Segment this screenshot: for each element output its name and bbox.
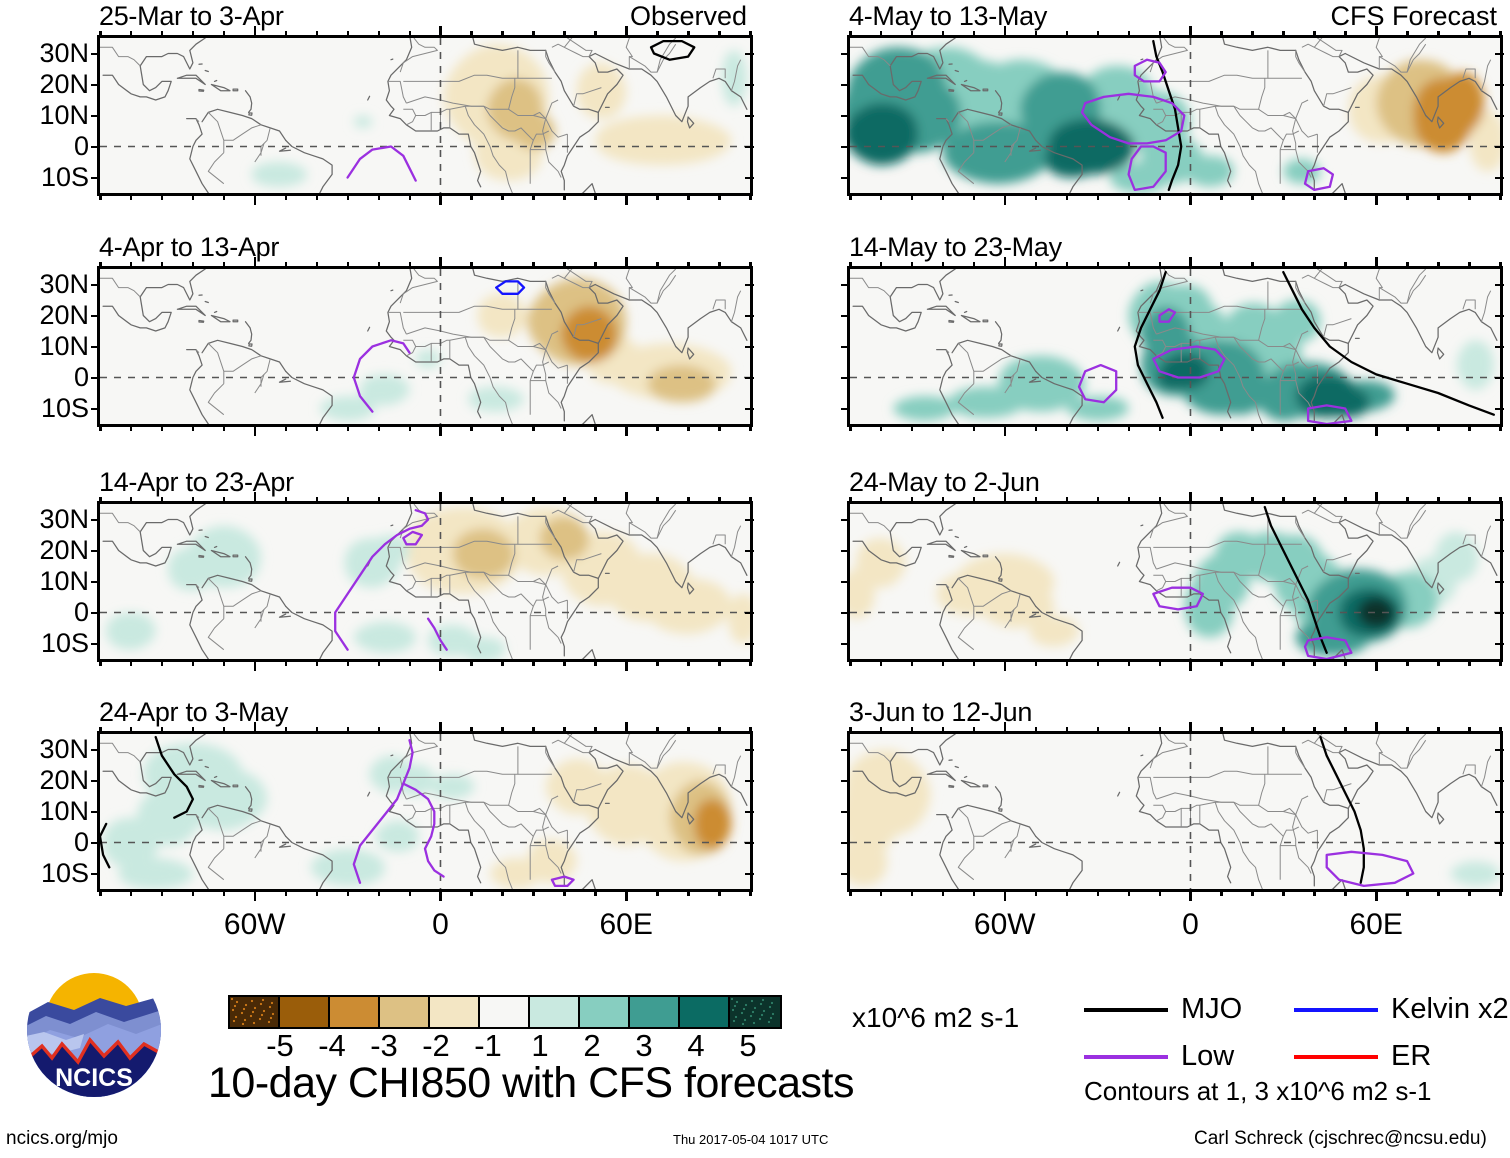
panel-right-1-xtick-mark-top bbox=[1468, 31, 1471, 38]
panel-right-3-xtick-mark-top bbox=[1159, 497, 1162, 504]
panel-left-2-xtick-mark bbox=[130, 424, 133, 431]
panel-right-4-xtick-mark-top bbox=[1468, 727, 1471, 734]
panel-left-1-ytick-mark bbox=[91, 53, 100, 56]
panel-left-4-xtick-mark bbox=[254, 889, 257, 901]
panel-right-4-xtick-mark bbox=[849, 889, 852, 896]
panel-right-2-xtick-mark-top bbox=[1189, 257, 1192, 269]
panel-left-4-ytick-4: 10S bbox=[1, 860, 89, 887]
colorbar-swatch-1 bbox=[280, 997, 330, 1027]
panel-right-4-xtick-mark-top bbox=[911, 727, 914, 734]
panel-right-2-ytick-mark-right bbox=[1495, 315, 1504, 318]
panel-left-2-ytick-1: 20N bbox=[1, 302, 89, 329]
colorbar-swatch-6 bbox=[530, 997, 580, 1027]
panel-right-4-xtick-mark bbox=[1189, 889, 1192, 901]
panel-left-4-ytick-mark-right bbox=[745, 873, 754, 876]
panel-left-2-xtick-mark bbox=[563, 424, 566, 431]
panel-right-4-xtick-mark-top bbox=[1128, 727, 1131, 734]
er-line-swatch bbox=[1294, 1055, 1378, 1059]
panel-left-2-xtick-mark bbox=[501, 424, 504, 431]
panel-left-2-ytick-mark-right bbox=[745, 346, 754, 349]
panel-right-4-xtick-mark bbox=[1437, 889, 1440, 896]
panel-right-1-xtick-mark bbox=[1437, 193, 1440, 200]
panel-left-3-ytick-1: 20N bbox=[1, 537, 89, 564]
panel-left-1-xtick-mark bbox=[254, 193, 257, 205]
panel-right-3-xtick-mark-top bbox=[973, 497, 976, 504]
panel-left-3-xtick-mark bbox=[532, 659, 535, 666]
colorbar-swatch-8 bbox=[630, 997, 680, 1027]
panel-right-4-xtick-mark-top bbox=[1251, 727, 1254, 734]
panel-left-3-xtick-mark bbox=[254, 659, 257, 671]
panel-left-1-xtick-mark-top bbox=[254, 26, 257, 38]
panel-left-1-ytick-2: 10N bbox=[1, 102, 89, 129]
panel-left-2-xtick-mark bbox=[99, 424, 102, 431]
panel-left-4-xtick-mark bbox=[99, 889, 102, 896]
colorbar-tick-4: -1 bbox=[458, 1030, 518, 1061]
panel-right-2-ytick-mark bbox=[841, 284, 850, 287]
panel-right-1-xtick-mark-top bbox=[1282, 31, 1285, 38]
panel-left-3-xtick-mark bbox=[285, 659, 288, 666]
panel-right-3-xtick-mark-top bbox=[1128, 497, 1131, 504]
panel-left-4-ytick-mark bbox=[91, 780, 100, 783]
panel-left-2-xtick-mark-top bbox=[254, 257, 257, 269]
panel-right-4-xtick-mark-top bbox=[1344, 727, 1347, 734]
panel-left-4-ytick-mark-right bbox=[745, 811, 754, 814]
panel-left-3-xtick-mark-top bbox=[254, 492, 257, 504]
panel-left-4-ytick-2: 10N bbox=[1, 798, 89, 825]
colorbar-tick-1: -4 bbox=[302, 1030, 362, 1061]
panel-left-2-ytick-mark-right bbox=[745, 408, 754, 411]
panel-left-4-xtick-mark-top bbox=[254, 722, 257, 734]
panel-left-2-ytick-mark-right bbox=[745, 377, 754, 380]
panel-right-1-ytick-mark-right bbox=[1495, 146, 1504, 149]
panel-right-1-xtick-mark-top bbox=[1159, 31, 1162, 38]
panel-right-1-xtick-mark bbox=[880, 193, 883, 200]
panel-right-3-xtick-mark bbox=[1128, 659, 1131, 666]
panel-right-2-xtick-mark bbox=[1066, 424, 1069, 431]
panel-right-3-xtick-mark-top bbox=[1282, 497, 1285, 504]
panel-right-1-xtick-mark bbox=[1189, 193, 1192, 205]
panel-left-1-ytick-3: 0 bbox=[1, 133, 89, 160]
panel-left-1-xtick-mark-top bbox=[563, 31, 566, 38]
panel-left-4-xtick-mark bbox=[749, 889, 752, 896]
panel-left-4-ytick-mark-right bbox=[745, 749, 754, 752]
panel-right-4-xtick-mark-top bbox=[1499, 727, 1502, 734]
panel-left-3-xtick-mark bbox=[625, 659, 628, 671]
panel-left-4-xtick-mark bbox=[687, 889, 690, 896]
colorbar-units-label: x10^6 m2 s-1 bbox=[852, 1004, 1019, 1032]
panel-right-1-xtick-mark bbox=[1128, 193, 1131, 200]
colorbar-swatch-0 bbox=[230, 997, 280, 1027]
panel-right-4-xtick-mark bbox=[1251, 889, 1254, 896]
panel-right-4-xtick-mark bbox=[1035, 889, 1038, 896]
panel-right-2-ytick-mark bbox=[841, 346, 850, 349]
panel-left-3-xtick-mark-top bbox=[470, 497, 473, 504]
svg-text:NCICS: NCICS bbox=[55, 1064, 133, 1092]
panel-right-3-ytick-mark-right bbox=[1495, 612, 1504, 615]
panel-right-3-xtick-mark bbox=[1066, 659, 1069, 666]
panel-right-2-xtick-mark-top bbox=[973, 262, 976, 269]
panel-left-3-xtick-mark-top bbox=[532, 497, 535, 504]
panel-right-2-xtick-mark-top bbox=[849, 262, 852, 269]
panel-left-1-map bbox=[97, 35, 753, 196]
panel-left-3-xtick-mark bbox=[470, 659, 473, 666]
panel-right-2-map bbox=[847, 266, 1503, 427]
panel-left-1-ytick-mark-right bbox=[745, 177, 754, 180]
panel-left-1-ytick-mark bbox=[91, 84, 100, 87]
panel-left-4-xtick-mark-top bbox=[749, 727, 752, 734]
panel-right-2-xtick-mark-top bbox=[1128, 262, 1131, 269]
panel-left-4-xtick-mark bbox=[223, 889, 226, 896]
panel-left-2-ytick-0: 30N bbox=[1, 271, 89, 298]
ncics-logo-graphic: NCICS bbox=[26, 962, 162, 1098]
panel-left-1-xtick-mark-top bbox=[378, 31, 381, 38]
panel-left-2-xtick-mark-top bbox=[687, 262, 690, 269]
panel-left-3-xtick-mark-top bbox=[347, 497, 350, 504]
panel-left-2-xtick-mark-top bbox=[501, 262, 504, 269]
panel-right-1-xtick-mark-top bbox=[1406, 31, 1409, 38]
panel-left-4-xtick-mark bbox=[378, 889, 381, 896]
panel-right-4-xtick-mark-top bbox=[1282, 727, 1285, 734]
panel-right-3-xtick-mark bbox=[1344, 659, 1347, 666]
panel-right-3-xtick-mark-top bbox=[911, 497, 914, 504]
colorbar-swatch-9 bbox=[680, 997, 730, 1027]
panel-left-1-xtick-mark-top bbox=[347, 31, 350, 38]
panel-left-4-xtick-mark bbox=[532, 889, 535, 896]
panel-left-1-xtick-mark bbox=[749, 193, 752, 200]
panel-left-4-xtick-mark bbox=[656, 889, 659, 896]
panel-left-4-xtick-mark-top bbox=[347, 727, 350, 734]
colorbar-tick-7: 3 bbox=[614, 1030, 674, 1061]
panel-right-3-ytick-mark bbox=[841, 550, 850, 553]
panel-left-4-xtick-mark-top bbox=[656, 727, 659, 734]
panel-right-1-xtick-mark-top bbox=[1375, 26, 1378, 38]
panel-right-1-xtick-mark bbox=[1499, 193, 1502, 200]
panel-right-3-xtick-mark bbox=[1375, 659, 1378, 671]
panel-left-4-xtick-mark-top bbox=[378, 727, 381, 734]
panel-left-3-ytick-0: 30N bbox=[1, 506, 89, 533]
colorbar-tick-2: -3 bbox=[354, 1030, 414, 1061]
panel-right-1-ytick-mark-right bbox=[1495, 177, 1504, 180]
panel-left-3-ytick-mark bbox=[91, 643, 100, 646]
panel-left-3-ytick-4: 10S bbox=[1, 630, 89, 657]
panel-left-1-ytick-mark-right bbox=[745, 115, 754, 118]
panel-right-4-xtick-mark-top bbox=[1035, 727, 1038, 734]
legend-label-low: Low bbox=[1181, 1042, 1234, 1071]
panel-left-4-xtick-mark bbox=[439, 889, 442, 901]
panel-left-2-ytick-mark bbox=[91, 284, 100, 287]
panel-left-3-xtick-mark-top bbox=[99, 497, 102, 504]
panel-left-2-xtick-mark-top bbox=[625, 257, 628, 269]
panel-left-3-ytick-mark bbox=[91, 519, 100, 522]
panel-left-4-xtick-mark-top bbox=[223, 727, 226, 734]
panel-right-1-xtick-mark-top bbox=[1220, 31, 1223, 38]
panel-right-3-ytick-mark-right bbox=[1495, 581, 1504, 584]
panel-right-4-xtick-mark-top bbox=[1004, 722, 1007, 734]
legend-label-kelvin: Kelvin x2 bbox=[1391, 995, 1509, 1024]
panel-left-4-xtick-mark-top bbox=[563, 727, 566, 734]
panel-right-2-xtick-mark-top bbox=[911, 262, 914, 269]
panel-right-4-xtick-mark-top bbox=[1406, 727, 1409, 734]
panel-right-1-xtick-mark bbox=[1344, 193, 1347, 200]
panel-left-3-xtick-mark bbox=[563, 659, 566, 666]
panel-right-3-xtick-mark bbox=[1313, 659, 1316, 666]
panel-right-1-xtick-mark-top bbox=[911, 31, 914, 38]
colorbar-tick-6: 2 bbox=[562, 1030, 622, 1061]
panel-left-3-ytick-3: 0 bbox=[1, 599, 89, 626]
xtick-label-1-0: 60W bbox=[935, 910, 1075, 940]
panel-left-2-ytick-mark bbox=[91, 408, 100, 411]
panel-left-4-xtick-mark-top bbox=[532, 727, 535, 734]
panel-right-2-xtick-mark bbox=[1499, 424, 1502, 431]
panel-right-1-xtick-mark bbox=[1220, 193, 1223, 200]
panel-left-4-xtick-mark-top bbox=[687, 727, 690, 734]
legend-label-mjo: MJO bbox=[1181, 995, 1242, 1024]
panel-left-4-xtick-mark bbox=[285, 889, 288, 896]
panel-right-4-xtick-mark bbox=[973, 889, 976, 896]
panel-right-4-xtick-mark-top bbox=[1437, 727, 1440, 734]
panel-left-3-xtick-mark bbox=[130, 659, 133, 666]
panel-left-3-ytick-mark-right bbox=[745, 643, 754, 646]
panel-left-2-xtick-mark bbox=[749, 424, 752, 431]
panel-right-4-xtick-mark-top bbox=[942, 727, 945, 734]
panel-right-3-xtick-mark bbox=[942, 659, 945, 666]
colorbar-swatch-5 bbox=[480, 997, 530, 1027]
panel-left-2-title: 4-Apr to 13-Apr bbox=[99, 234, 279, 261]
panel-left-2-xtick-mark-top bbox=[192, 262, 195, 269]
panel-left-4-xtick-mark bbox=[347, 889, 350, 896]
panel-right-3-xtick-mark-top bbox=[1344, 497, 1347, 504]
panel-left-4-map bbox=[97, 731, 753, 892]
panel-right-4-xtick-mark bbox=[1004, 889, 1007, 901]
panel-left-3-xtick-mark bbox=[501, 659, 504, 666]
panel-right-4-xtick-mark bbox=[1282, 889, 1285, 896]
panel-right-4-ytick-mark-right bbox=[1495, 811, 1504, 814]
panel-left-2-xtick-mark bbox=[439, 424, 442, 436]
panel-right-4-xtick-mark-top bbox=[880, 727, 883, 734]
panel-left-2-xtick-mark-top bbox=[378, 262, 381, 269]
panel-right-1-xtick-mark-top bbox=[1035, 31, 1038, 38]
colorbar-swatch-4 bbox=[430, 997, 480, 1027]
panel-left-2-xtick-mark-top bbox=[656, 262, 659, 269]
panel-left-4-ytick-mark bbox=[91, 842, 100, 845]
panel-left-1-xtick-mark-top bbox=[223, 31, 226, 38]
panel-right-4-map bbox=[847, 731, 1503, 892]
panel-left-4-xtick-mark bbox=[563, 889, 566, 896]
panel-right-2-xtick-mark bbox=[1406, 424, 1409, 431]
panel-left-4-xtick-mark-top bbox=[625, 722, 628, 734]
panel-left-1-xtick-mark bbox=[470, 193, 473, 200]
panel-left-1-xtick-mark-top bbox=[439, 26, 442, 38]
panel-left-3-ytick-mark-right bbox=[745, 612, 754, 615]
panel-left-3-xtick-mark bbox=[439, 659, 442, 671]
panel-left-2-xtick-mark bbox=[532, 424, 535, 431]
panel-right-3-xtick-mark-top bbox=[1375, 492, 1378, 504]
panel-right-3-xtick-mark-top bbox=[942, 497, 945, 504]
panel-right-4-xtick-mark bbox=[1097, 889, 1100, 896]
panel-right-3-xtick-mark-top bbox=[1313, 497, 1316, 504]
panel-left-1-xtick-mark-top bbox=[285, 31, 288, 38]
panel-left-3-ytick-mark bbox=[91, 550, 100, 553]
panel-right-4-xtick-mark bbox=[1220, 889, 1223, 896]
panel-right-2-xtick-mark bbox=[1375, 424, 1378, 436]
panel-right-2-xtick-mark-top bbox=[1437, 262, 1440, 269]
panel-left-3-xtick-mark-top bbox=[439, 492, 442, 504]
panel-right-3-xtick-mark bbox=[1437, 659, 1440, 666]
panel-right-2-ytick-mark-right bbox=[1495, 284, 1504, 287]
panel-right-1-xtick-mark bbox=[1004, 193, 1007, 205]
panel-right-3-xtick-mark bbox=[1159, 659, 1162, 666]
panel-left-1-xtick-mark bbox=[409, 193, 412, 200]
xtick-label-1-2: 60E bbox=[1306, 910, 1446, 940]
panel-left-2-map bbox=[97, 266, 753, 427]
panel-right-1-ytick-mark bbox=[841, 84, 850, 87]
panel-left-3-xtick-mark-top bbox=[192, 497, 195, 504]
panel-left-1-xtick-mark bbox=[285, 193, 288, 200]
panel-left-1-xtick-mark bbox=[223, 193, 226, 200]
panel-left-2-xtick-mark-top bbox=[409, 262, 412, 269]
panel-left-2-xtick-mark-top bbox=[563, 262, 566, 269]
panel-right-3-xtick-mark-top bbox=[1220, 497, 1223, 504]
panel-right-1-xtick-mark-top bbox=[1004, 26, 1007, 38]
panel-right-4-ytick-mark-right bbox=[1495, 780, 1504, 783]
panel-left-3-xtick-mark bbox=[161, 659, 164, 666]
panel-right-2-xtick-mark bbox=[1468, 424, 1471, 431]
column-header-left: Observed bbox=[97, 3, 747, 30]
panel-right-1-ytick-mark bbox=[841, 115, 850, 118]
panel-right-3-ytick-mark-right bbox=[1495, 519, 1504, 522]
panel-right-2-xtick-mark bbox=[1004, 424, 1007, 436]
panel-right-4-ytick-mark-right bbox=[1495, 873, 1504, 876]
colorbar-tick-3: -2 bbox=[406, 1030, 466, 1061]
panel-left-4-xtick-mark-top bbox=[285, 727, 288, 734]
panel-right-1-xtick-mark-top bbox=[1251, 31, 1254, 38]
panel-right-3-xtick-mark bbox=[1251, 659, 1254, 666]
panel-right-1-xtick-mark bbox=[1282, 193, 1285, 200]
panel-left-2-xtick-mark bbox=[470, 424, 473, 431]
colorbar-swatch-3 bbox=[380, 997, 430, 1027]
main-title: 10-day CHI850 with CFS forecasts bbox=[208, 1062, 854, 1105]
panel-right-3-xtick-mark bbox=[1499, 659, 1502, 666]
panel-left-3-xtick-mark-top bbox=[563, 497, 566, 504]
panel-right-2-xtick-mark bbox=[1159, 424, 1162, 431]
panel-left-2-xtick-mark bbox=[285, 424, 288, 431]
panel-right-1-map bbox=[847, 35, 1503, 196]
panel-left-4-xtick-mark-top bbox=[439, 722, 442, 734]
colorbar bbox=[228, 995, 782, 1029]
panel-right-3-xtick-mark bbox=[1220, 659, 1223, 666]
panel-right-1-xtick-mark bbox=[911, 193, 914, 200]
ncics-logo: NCICS bbox=[26, 962, 162, 1098]
panel-left-3-ytick-mark bbox=[91, 612, 100, 615]
panel-left-3-xtick-mark-top bbox=[378, 497, 381, 504]
panel-left-4-xtick-mark bbox=[718, 889, 721, 896]
panel-right-3-xtick-mark-top bbox=[1406, 497, 1409, 504]
panel-left-1-xtick-mark bbox=[625, 193, 628, 205]
panel-right-3-ytick-mark bbox=[841, 643, 850, 646]
panel-right-2-xtick-mark bbox=[1035, 424, 1038, 431]
panel-left-2-ytick-mark bbox=[91, 377, 100, 380]
panel-right-4-xtick-mark bbox=[1313, 889, 1316, 896]
panel-right-4-xtick-mark bbox=[880, 889, 883, 896]
panel-right-2-xtick-mark-top bbox=[1066, 262, 1069, 269]
panel-right-4-xtick-mark bbox=[1406, 889, 1409, 896]
panel-left-1-xtick-mark bbox=[439, 193, 442, 205]
panel-right-1-xtick-mark-top bbox=[1499, 31, 1502, 38]
panel-left-4-xtick-mark-top bbox=[409, 727, 412, 734]
panel-left-2-ytick-mark-right bbox=[745, 284, 754, 287]
colorbar-tick-8: 4 bbox=[666, 1030, 726, 1061]
panel-right-3-xtick-mark-top bbox=[849, 497, 852, 504]
panel-left-2-xtick-mark bbox=[594, 424, 597, 431]
panel-left-1-xtick-mark-top bbox=[625, 26, 628, 38]
panel-left-2-xtick-mark-top bbox=[347, 262, 350, 269]
panel-left-3-xtick-mark-top bbox=[749, 497, 752, 504]
panel-right-4-xtick-mark bbox=[1128, 889, 1131, 896]
panel-left-2-xtick-mark-top bbox=[161, 262, 164, 269]
panel-right-1-xtick-mark-top bbox=[942, 31, 945, 38]
panel-left-3-xtick-mark-top bbox=[625, 492, 628, 504]
panel-right-2-xtick-mark bbox=[1128, 424, 1131, 431]
panel-right-3-xtick-mark bbox=[1282, 659, 1285, 666]
panel-left-4-title: 24-Apr to 3-May bbox=[99, 699, 288, 726]
panel-right-2-xtick-mark bbox=[1344, 424, 1347, 431]
panel-left-2-xtick-mark bbox=[316, 424, 319, 431]
panel-left-2-xtick-mark-top bbox=[285, 262, 288, 269]
panel-right-2-ytick-mark-right bbox=[1495, 377, 1504, 380]
panel-right-4-xtick-mark-top bbox=[1097, 727, 1100, 734]
panel-right-4-xtick-mark-top bbox=[1375, 722, 1378, 734]
panel-left-2-xtick-mark bbox=[347, 424, 350, 431]
panel-left-3-xtick-mark bbox=[378, 659, 381, 666]
panel-right-1-xtick-mark bbox=[1313, 193, 1316, 200]
panel-left-1-xtick-mark-top bbox=[532, 31, 535, 38]
panel-right-2-xtick-mark-top bbox=[1220, 262, 1223, 269]
panel-right-1-xtick-mark bbox=[1251, 193, 1254, 200]
panel-right-2-xtick-mark-top bbox=[1282, 262, 1285, 269]
panel-right-2-xtick-mark bbox=[1189, 424, 1192, 436]
panel-left-2-xtick-mark-top bbox=[130, 262, 133, 269]
panel-right-4-xtick-mark bbox=[942, 889, 945, 896]
footer-site[interactable]: ncics.org/mjo bbox=[6, 1129, 118, 1148]
panel-left-2-xtick-mark-top bbox=[223, 262, 226, 269]
panel-left-2-xtick-mark bbox=[656, 424, 659, 431]
panel-right-2-xtick-mark-top bbox=[1344, 262, 1347, 269]
xtick-label-0-1: 0 bbox=[370, 910, 510, 940]
panel-right-4-xtick-mark bbox=[1066, 889, 1069, 896]
panel-right-3-xtick-mark bbox=[911, 659, 914, 666]
panel-left-4-xtick-mark-top bbox=[316, 727, 319, 734]
panel-right-4-xtick-mark-top bbox=[1066, 727, 1069, 734]
panel-left-1-xtick-mark bbox=[161, 193, 164, 200]
panel-right-2-xtick-mark bbox=[911, 424, 914, 431]
panel-left-2-xtick-mark bbox=[192, 424, 195, 431]
panel-right-3-xtick-mark-top bbox=[1066, 497, 1069, 504]
panel-right-3-ytick-mark bbox=[841, 519, 850, 522]
panel-right-2-xtick-mark-top bbox=[1004, 257, 1007, 269]
panel-right-3-xtick-mark-top bbox=[880, 497, 883, 504]
contour-note: Contours at 1, 3 x10^6 m2 s-1 bbox=[1084, 1078, 1431, 1104]
panel-right-3-xtick-mark bbox=[849, 659, 852, 666]
panel-left-4-xtick-mark-top bbox=[99, 727, 102, 734]
panel-left-4-ytick-mark bbox=[91, 811, 100, 814]
panel-left-4-xtick-mark bbox=[192, 889, 195, 896]
panel-left-1-xtick-mark-top bbox=[409, 31, 412, 38]
panel-left-3-ytick-mark-right bbox=[745, 581, 754, 584]
panel-right-1-xtick-mark bbox=[1468, 193, 1471, 200]
colorbar-swatch-7 bbox=[580, 997, 630, 1027]
panel-left-1-xtick-mark bbox=[130, 193, 133, 200]
panel-left-1-xtick-mark-top bbox=[718, 31, 721, 38]
